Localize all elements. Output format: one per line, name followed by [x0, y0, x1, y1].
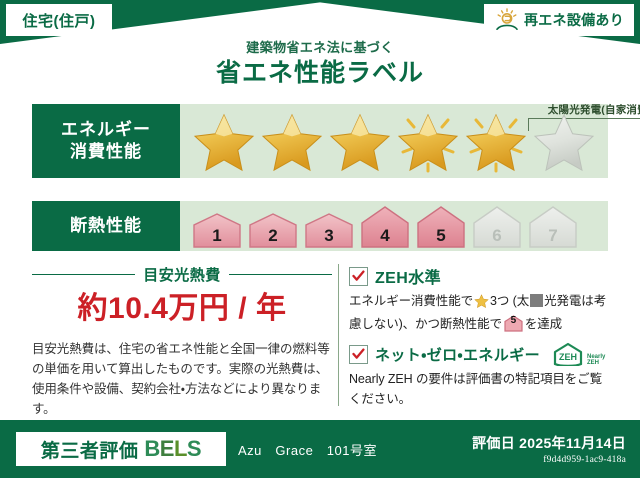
svg-text:ZEH: ZEH [559, 352, 577, 362]
insulation-level-6-number: 6 [472, 226, 522, 246]
bels-jp-label: 第三者評価 [41, 436, 139, 463]
star-2 [258, 106, 326, 176]
zeh-level-title: ZEH水準 [375, 264, 441, 288]
energy-stars-panel: 太陽光発電(自家消費)分 [180, 104, 608, 178]
insulation-level-6: 6 [472, 205, 522, 250]
energy-performance-row: エネルギー 消費性能 太陽光発電(自家消費)分 [32, 104, 608, 178]
utility-cost-value: 約10.4万円 / 年 [32, 291, 332, 327]
zeh-nearly-logo-icon: ZEH Nearly ZEH [551, 342, 605, 366]
insulation-level-4: 4 [360, 205, 410, 250]
insulation-level-5: 5 [416, 205, 466, 250]
sun-solar-icon [494, 8, 520, 32]
star-3 [326, 106, 394, 176]
star-6-empty [530, 106, 598, 176]
zeh-level-block: ZEH水準 エネルギー消費性能で3つ (太光発電は考慮しない)、かつ断熱性能で5… [349, 264, 608, 334]
renewable-badge-label: 再エネ設備あり [524, 10, 624, 30]
insulation-level-2: 2 [248, 212, 298, 250]
energy-performance-label: 住宅(住戸) 再エネ設備あり 建築物省エネ法に基づく 省エネ性能ラベル [0, 0, 640, 478]
insulation-levels-panel: 1 2 3 [180, 201, 608, 251]
insulation-level-group: 1 2 3 [180, 202, 578, 250]
check-icon-zeh-level [349, 267, 368, 286]
evaluation-info: 評価日 2025年11月14日 f9d4d959-1ac9-418a [472, 433, 626, 465]
insulation-level-4-number: 4 [360, 226, 410, 246]
insulation-level-3: 3 [304, 212, 354, 250]
insulation-level-7-number: 7 [528, 226, 578, 246]
insulation-label: 断熱性能 [70, 215, 142, 237]
zeh-level-heading: ZEH水準 [349, 264, 608, 288]
inline-star-icon [474, 294, 489, 314]
utility-cost-heading-row: 目安光熱費 [32, 264, 332, 285]
label-title-block: 建築物省エネ法に基づく 省エネ性能ラベル [0, 40, 640, 88]
bels-en-logo: BELS [144, 438, 201, 460]
title-subtitle: 建築物省エネ法に基づく [0, 40, 640, 56]
insulation-level-7: 7 [528, 205, 578, 250]
renewable-equipment-badge: 再エネ設備あり [484, 4, 634, 36]
insulation-level-1: 1 [192, 212, 242, 250]
lower-content: 目安光熱費 約10.4万円 / 年 目安光熱費は、住宅の省エネ性能と全国一律の燃… [32, 262, 608, 412]
zeh-logo-sub2: ZEH [587, 360, 599, 366]
insulation-performance-label-box: 断熱性能 [32, 201, 180, 251]
heading-rule-left [32, 274, 135, 276]
building-type-badge: 住宅(住戸) [6, 4, 112, 36]
energy-label-line1: エネルギー [61, 119, 151, 141]
insulation-level-1-number: 1 [192, 226, 242, 246]
check-icon-net-zero [349, 345, 368, 364]
inline-insulation-badge-number: 5 [504, 311, 523, 331]
zeh-desc-part2: 3つ (太 [490, 294, 529, 308]
zeh-desc-part1: エネルギー消費性能で [349, 294, 473, 308]
inline-insulation-badge: 5 [504, 315, 523, 332]
zeh-desc-part4: を達成 [525, 317, 562, 331]
building-type-label: 住宅(住戸) [23, 10, 96, 31]
zeh-logo-subtext: Nearly ZEH [587, 354, 605, 366]
star-5-pv [462, 106, 530, 176]
energy-label-line2: 消費性能 [70, 141, 142, 163]
star-1 [190, 106, 258, 176]
insulation-level-2-number: 2 [248, 226, 298, 246]
insulation-performance-row: 断熱性能 1 [32, 201, 608, 251]
utility-cost-heading: 目安光熱費 [143, 264, 221, 285]
zeh-section: ZEH水準 エネルギー消費性能で3つ (太光発電は考慮しない)、かつ断熱性能で5… [349, 262, 608, 412]
vertical-divider [338, 264, 339, 406]
zeh-level-description: エネルギー消費性能で3つ (太光発電は考慮しない)、かつ断熱性能で5を達成 [349, 291, 608, 334]
utility-cost-note: 目安光熱費は、住宅の省エネ性能と全国一律の燃料等の単価を用いて算出したものです。… [32, 339, 332, 419]
evaluation-id: f9d4d959-1ac9-418a [472, 455, 626, 465]
net-zero-heading: ネット・ゼロ・エネルギー ZEH Nearly ZEH [349, 342, 608, 366]
energy-performance-label-box: エネルギー 消費性能 [32, 104, 180, 178]
insulation-level-5-number: 5 [416, 226, 466, 246]
evaluation-date: 評価日 2025年11月14日 [472, 433, 626, 453]
redacted-character [530, 294, 543, 307]
utility-cost-section: 目安光熱費 約10.4万円 / 年 目安光熱費は、住宅の省エネ性能と全国一律の燃… [32, 262, 332, 412]
insulation-level-3-number: 3 [304, 226, 354, 246]
label-footer: 第三者評価 BELS Azu Grace 101号室 評価日 2025年11月1… [0, 420, 640, 478]
star-rating-group [180, 106, 598, 176]
net-zero-description: Nearly ZEH の要件は評価書の特記項目をご覧ください。 [349, 369, 608, 409]
net-zero-energy-block: ネット・ゼロ・エネルギー ZEH Nearly ZEH Nearly ZE [349, 342, 608, 409]
bels-badge: 第三者評価 BELS [16, 432, 226, 466]
star-4-pv [394, 106, 462, 176]
page-title: 省エネ性能ラベル [0, 58, 640, 88]
property-name: Azu Grace 101号室 [238, 440, 377, 459]
net-zero-title: ネット・ゼロ・エネルギー [375, 344, 540, 365]
heading-rule-right [229, 274, 332, 276]
